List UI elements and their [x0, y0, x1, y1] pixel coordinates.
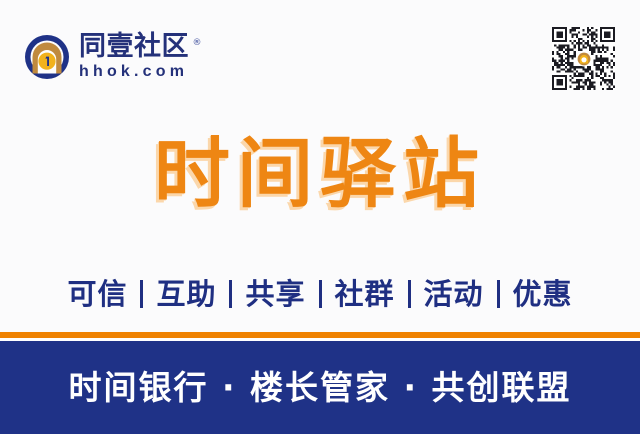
keyword-separator: [408, 280, 411, 308]
brand-website: hhok.com: [79, 63, 189, 80]
qr-center-logo-icon: [576, 51, 591, 66]
brand-name-label: 同壹社区: [79, 31, 189, 62]
keyword-item: 互助: [156, 275, 216, 313]
keyword-item: 可信: [67, 275, 127, 313]
brand-text-block: 同壹社区 ® hhok.com: [79, 33, 189, 80]
qr-code[interactable]: [552, 27, 615, 90]
keyword-separator: [229, 280, 232, 308]
keyword-separator: [140, 280, 143, 308]
poster-title: 时间驿站: [0, 128, 640, 220]
footer-tagline: 时间银行 · 楼长管家 · 共创联盟: [68, 366, 571, 410]
keyword-separator: [497, 280, 500, 308]
brand-name: 同壹社区 ®: [79, 33, 189, 61]
keyword-item: 共享: [245, 275, 305, 313]
keyword-item: 活动: [424, 275, 484, 313]
poster-canvas: 同壹社区 ® hhok.com 时间驿站 可信互助共享社群活动优惠 时间银行 ·: [0, 0, 640, 434]
keyword-item: 优惠: [513, 275, 573, 313]
poster-header: 同壹社区 ® hhok.com: [0, 0, 640, 118]
hhok-community-circle-logo-icon: [24, 34, 70, 80]
keyword-row: 可信互助共享社群活动优惠: [0, 275, 640, 313]
poster-footer: 时间银行 · 楼长管家 · 共创联盟: [0, 341, 640, 434]
registered-trademark-icon: ®: [193, 29, 203, 57]
keyword-item: 社群: [335, 275, 395, 313]
keyword-separator: [319, 280, 322, 308]
brand-lockup: 同壹社区 ® hhok.com: [24, 33, 189, 80]
